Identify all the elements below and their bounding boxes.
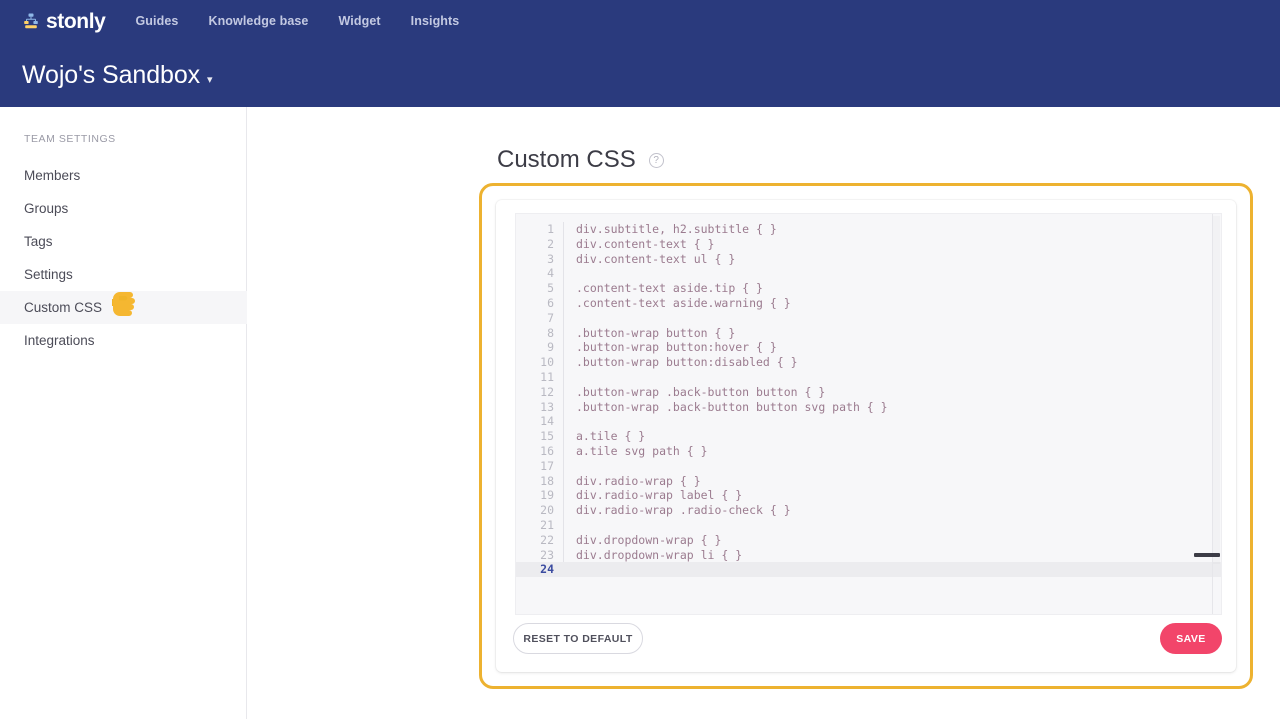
main-content: Custom CSS ? 1div.subtitle, h2.subtitle … [247, 107, 1280, 719]
line-number: 5 [516, 281, 563, 296]
line-number: 24 [516, 562, 563, 577]
css-code-editor[interactable]: 1div.subtitle, h2.subtitle { }2div.conte… [515, 213, 1222, 615]
code-line-text: .content-text aside.warning { } [564, 296, 791, 311]
code-line-text [564, 562, 576, 577]
line-number: 20 [516, 503, 563, 518]
line-number: 21 [516, 518, 563, 533]
sidebar-item-label: Settings [24, 267, 73, 282]
code-line-text: div.subtitle, h2.subtitle { } [564, 222, 777, 237]
sidebar-item-label: Integrations [24, 333, 95, 348]
nav-item-guides[interactable]: Guides [135, 14, 178, 28]
line-number: 14 [516, 414, 563, 429]
code-line-text: div.radio-wrap { } [564, 474, 701, 489]
team-name: Wojo's Sandbox [22, 61, 200, 90]
save-button[interactable]: SAVE [1160, 623, 1222, 654]
line-number: 19 [516, 488, 563, 503]
line-number: 1 [516, 222, 563, 237]
code-line-text [564, 414, 576, 429]
line-number: 23 [516, 548, 563, 563]
code-line[interactable]: 5.content-text aside.tip { } [516, 281, 1221, 296]
line-number: 6 [516, 296, 563, 311]
code-line-text: div.radio-wrap .radio-check { } [564, 503, 791, 518]
code-line-text: div.radio-wrap label { } [564, 488, 742, 503]
code-line[interactable]: 24 [516, 562, 1221, 577]
code-line-text: .button-wrap .back-button button svg pat… [564, 400, 888, 415]
line-number: 17 [516, 459, 563, 474]
help-circle-icon[interactable]: ? [649, 153, 664, 168]
line-number: 8 [516, 326, 563, 341]
brand-logo[interactable]: stonly [22, 11, 105, 32]
code-line-text: a.tile svg path { } [564, 444, 708, 459]
code-line-text: div.content-text ul { } [564, 252, 735, 267]
code-line[interactable]: 17 [516, 459, 1221, 474]
line-number: 13 [516, 400, 563, 415]
reset-to-default-button[interactable]: RESET TO DEFAULT [513, 623, 643, 654]
code-line-text: div.dropdown-wrap { } [564, 533, 721, 548]
team-switcher[interactable]: Wojo's Sandbox ▾ [22, 61, 213, 90]
code-line[interactable]: 2div.content-text { } [516, 237, 1221, 252]
code-line[interactable]: 23div.dropdown-wrap li { } [516, 548, 1221, 563]
code-line[interactable]: 11 [516, 370, 1221, 385]
sidebar-item-custom-css[interactable]: Custom CSS [0, 291, 247, 324]
code-line[interactable]: 3div.content-text ul { } [516, 252, 1221, 267]
line-number: 9 [516, 340, 563, 355]
line-number: 10 [516, 355, 563, 370]
code-line[interactable]: 18div.radio-wrap { } [516, 474, 1221, 489]
sidebar-menu: Members Groups Tags Settings Custom CSS … [0, 159, 247, 357]
code-line-text: .button-wrap button:disabled { } [564, 355, 798, 370]
line-number: 15 [516, 429, 563, 444]
code-line[interactable]: 13.button-wrap .back-button button svg p… [516, 400, 1221, 415]
code-line[interactable]: 15a.tile { } [516, 429, 1221, 444]
code-line[interactable]: 19div.radio-wrap label { } [516, 488, 1221, 503]
nav-item-insights[interactable]: Insights [411, 14, 460, 28]
code-line[interactable]: 7 [516, 311, 1221, 326]
code-line[interactable]: 14 [516, 414, 1221, 429]
code-line[interactable]: 1div.subtitle, h2.subtitle { } [516, 222, 1221, 237]
code-line-text [564, 459, 576, 474]
brand-name: stonly [46, 11, 105, 32]
code-line-text: .button-wrap button:hover { } [564, 340, 777, 355]
sidebar-item-members[interactable]: Members [0, 159, 247, 192]
nav-row: stonly Guides Knowledge base Widget Insi… [22, 8, 459, 34]
editor-horizontal-scrollbar-thumb[interactable] [1194, 553, 1220, 557]
line-number: 7 [516, 311, 563, 326]
code-line-text [564, 266, 576, 281]
top-navigation-bar: stonly Guides Knowledge base Widget Insi… [0, 0, 1280, 107]
page-title: Custom CSS [497, 146, 636, 174]
sidebar-item-integrations[interactable]: Integrations [0, 324, 247, 357]
code-line[interactable]: 20div.radio-wrap .radio-check { } [516, 503, 1221, 518]
line-number: 3 [516, 252, 563, 267]
line-number: 12 [516, 385, 563, 400]
code-line-text [564, 311, 576, 326]
code-line[interactable]: 12.button-wrap .back-button button { } [516, 385, 1221, 400]
line-number: 2 [516, 237, 563, 252]
line-number: 4 [516, 266, 563, 281]
editor-vertical-scrollbar-thumb[interactable] [1213, 216, 1220, 564]
custom-css-card: 1div.subtitle, h2.subtitle { }2div.conte… [496, 200, 1236, 672]
sidebar-item-settings[interactable]: Settings [0, 258, 247, 291]
line-number: 16 [516, 444, 563, 459]
code-line-text [564, 518, 576, 533]
code-line-text: div.dropdown-wrap li { } [564, 548, 742, 563]
code-line-text: a.tile { } [564, 429, 645, 444]
nav-links: Guides Knowledge base Widget Insights [135, 14, 459, 28]
code-line[interactable]: 8.button-wrap button { } [516, 326, 1221, 341]
stonly-logo-icon [22, 12, 40, 30]
nav-item-widget[interactable]: Widget [338, 14, 380, 28]
sidebar-item-label: Members [24, 168, 80, 183]
sidebar-item-label: Groups [24, 201, 68, 216]
editor-scroll-region[interactable]: 1div.subtitle, h2.subtitle { }2div.conte… [516, 214, 1221, 614]
code-line-text: div.content-text { } [564, 237, 714, 252]
chevron-down-icon: ▾ [207, 73, 213, 86]
code-lines: 1div.subtitle, h2.subtitle { }2div.conte… [516, 222, 1221, 577]
sidebar-item-groups[interactable]: Groups [0, 192, 247, 225]
code-line[interactable]: 6.content-text aside.warning { } [516, 296, 1221, 311]
sidebar-item-label: Custom CSS [24, 300, 102, 315]
sidebar-item-tags[interactable]: Tags [0, 225, 247, 258]
nav-item-knowledge-base[interactable]: Knowledge base [208, 14, 308, 28]
sidebar-item-label: Tags [24, 234, 53, 249]
code-line-text: .button-wrap .back-button button { } [564, 385, 825, 400]
sidebar: TEAM SETTINGS Members Groups Tags Settin… [0, 107, 247, 719]
code-line-text: .content-text aside.tip { } [564, 281, 763, 296]
page-header: Custom CSS ? [497, 146, 664, 174]
code-line[interactable]: 22div.dropdown-wrap { } [516, 533, 1221, 548]
line-number: 18 [516, 474, 563, 489]
line-number: 22 [516, 533, 563, 548]
line-number: 11 [516, 370, 563, 385]
code-line-text: .button-wrap button { } [564, 326, 735, 341]
code-line[interactable]: 4 [516, 266, 1221, 281]
code-line-text [564, 370, 576, 385]
code-line[interactable]: 9.button-wrap button:hover { } [516, 340, 1221, 355]
code-line[interactable]: 21 [516, 518, 1221, 533]
code-line[interactable]: 16a.tile svg path { } [516, 444, 1221, 459]
code-line[interactable]: 10.button-wrap button:disabled { } [516, 355, 1221, 370]
sidebar-section-label: TEAM SETTINGS [24, 133, 116, 145]
